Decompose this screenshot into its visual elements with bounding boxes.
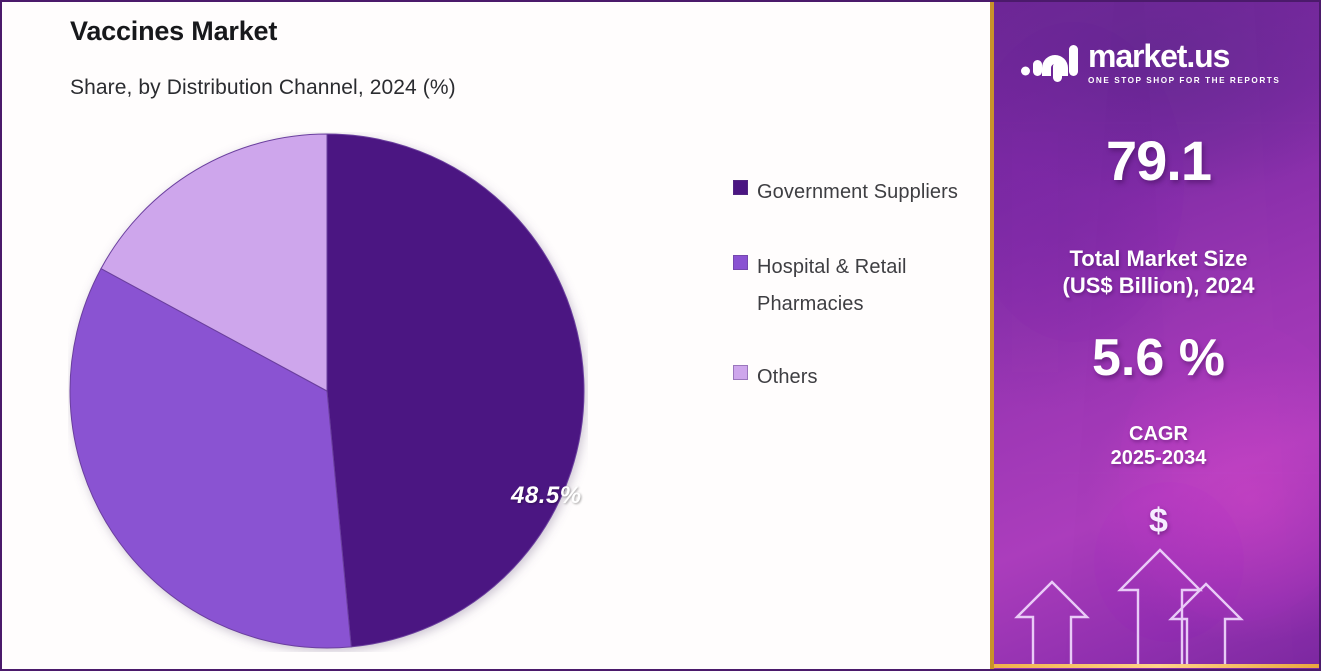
legend-item-label: Government Suppliers bbox=[757, 174, 958, 211]
panel-bottom-divider bbox=[994, 664, 1321, 668]
legend-item-label: Others bbox=[757, 359, 818, 396]
legend-swatch-icon bbox=[733, 365, 748, 380]
up-arrows-icon bbox=[994, 548, 1321, 668]
legend: Government Suppliers Hospital & Retail P… bbox=[733, 174, 983, 396]
page-title: Vaccines Market bbox=[70, 16, 277, 47]
logo-wordmark: market.us bbox=[1088, 40, 1280, 72]
legend-item-government-suppliers[interactable]: Government Suppliers bbox=[733, 174, 983, 211]
stat-caption-market-size: Total Market Size (US$ Billion), 2024 bbox=[994, 246, 1321, 300]
stat-caption-line: 2025-2034 bbox=[994, 446, 1321, 470]
legend-swatch-icon bbox=[733, 180, 748, 195]
stat-value-cagr: 5.6 % bbox=[994, 328, 1321, 388]
stat-caption-line: (US$ Billion), 2024 bbox=[994, 273, 1321, 300]
chart-subtitle: Share, by Distribution Channel, 2024 (%) bbox=[70, 76, 456, 100]
stat-caption-line: Total Market Size bbox=[994, 246, 1321, 273]
logo-tagline: ONE STOP SHOP FOR THE REPORTS bbox=[1088, 76, 1280, 85]
legend-item-others[interactable]: Others bbox=[733, 359, 983, 396]
logo[interactable]: market.us ONE STOP SHOP FOR THE REPORTS bbox=[1020, 38, 1280, 87]
pie-chart: 48.5% bbox=[68, 132, 588, 652]
pie-slice-government-suppliers bbox=[327, 134, 584, 647]
pie-slice-value-label: 48.5% bbox=[511, 482, 582, 510]
legend-item-label: Hospital & Retail Pharmacies bbox=[757, 249, 983, 323]
stat-caption-cagr: CAGR 2025-2034 bbox=[994, 422, 1321, 471]
legend-swatch-icon bbox=[733, 255, 748, 270]
stat-value-market-size: 79.1 bbox=[994, 128, 1321, 193]
market-us-bars-icon bbox=[1020, 38, 1078, 87]
legend-item-hospital-retail-pharmacies[interactable]: Hospital & Retail Pharmacies bbox=[733, 249, 983, 323]
pie-chart-svg bbox=[68, 132, 588, 652]
side-panel: market.us ONE STOP SHOP FOR THE REPORTS … bbox=[990, 2, 1321, 671]
logo-text: market.us ONE STOP SHOP FOR THE REPORTS bbox=[1088, 40, 1280, 85]
infographic-page: Vaccines Market Share, by Distribution C… bbox=[0, 0, 1321, 671]
stat-caption-line: CAGR bbox=[994, 422, 1321, 446]
chart-area: Vaccines Market Share, by Distribution C… bbox=[2, 2, 990, 671]
dollar-icon: $ bbox=[994, 502, 1321, 541]
